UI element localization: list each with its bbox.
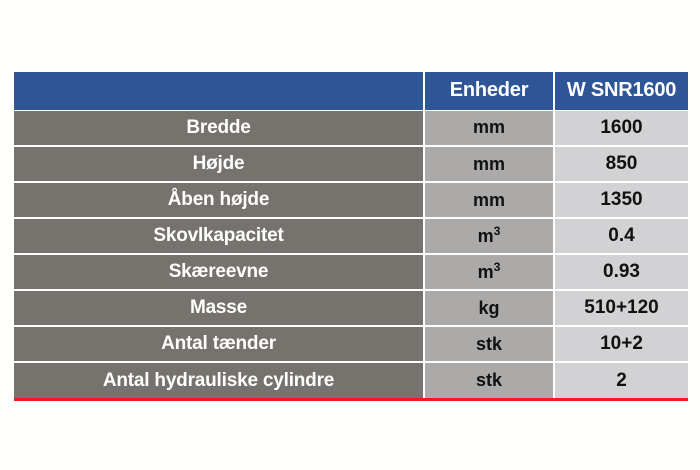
cell-unit: m3: [424, 254, 554, 290]
cell-value: 850: [554, 146, 688, 182]
specification-table: Enheder W SNR1600 Breddemm1600Højdemm850…: [14, 72, 688, 398]
cell-property-name: Åben højde: [14, 182, 424, 218]
cell-property-name: Antal hydrauliske cylindre: [14, 362, 424, 398]
specification-table-container: Enheder W SNR1600 Breddemm1600Højdemm850…: [14, 72, 688, 401]
unit-superscript: 3: [494, 224, 501, 238]
cell-unit: mm: [424, 146, 554, 182]
cell-value: 0.4: [554, 218, 688, 254]
unit-superscript: 3: [494, 260, 501, 274]
table-row: Højdemm850: [14, 146, 688, 182]
cell-property-name: Masse: [14, 290, 424, 326]
table-row: Skæreevnem30.93: [14, 254, 688, 290]
cell-unit: mm: [424, 182, 554, 218]
cell-property-name: Højde: [14, 146, 424, 182]
cell-value: 10+2: [554, 326, 688, 362]
cell-value: 1600: [554, 110, 688, 146]
table-row: Åben højdemm1350: [14, 182, 688, 218]
cell-unit: m3: [424, 218, 554, 254]
cell-unit: stk: [424, 326, 554, 362]
column-header-model: W SNR1600: [554, 72, 688, 110]
cell-value: 510+120: [554, 290, 688, 326]
table-row: Breddemm1600: [14, 110, 688, 146]
column-header-units: Enheder: [424, 72, 554, 110]
cell-property-name: Bredde: [14, 110, 424, 146]
cell-unit: mm: [424, 110, 554, 146]
cell-value: 0.93: [554, 254, 688, 290]
table-row: Antal tænderstk10+2: [14, 326, 688, 362]
table-row: Antal hydrauliske cylindrestk2: [14, 362, 688, 398]
cell-value: 2: [554, 362, 688, 398]
table-body: Breddemm1600Højdemm850Åben højdemm1350Sk…: [14, 110, 688, 398]
cell-unit: stk: [424, 362, 554, 398]
table-header-row: Enheder W SNR1600: [14, 72, 688, 110]
cell-property-name: Antal tænder: [14, 326, 424, 362]
table-header: Enheder W SNR1600: [14, 72, 688, 110]
cell-value: 1350: [554, 182, 688, 218]
cell-property-name: Skæreevne: [14, 254, 424, 290]
cell-property-name: Skovlkapacitet: [14, 218, 424, 254]
cell-unit: kg: [424, 290, 554, 326]
table-row: Massekg510+120: [14, 290, 688, 326]
table-bottom-accent-rule: [14, 398, 688, 401]
column-header-property: [14, 72, 424, 110]
table-row: Skovlkapacitetm30.4: [14, 218, 688, 254]
